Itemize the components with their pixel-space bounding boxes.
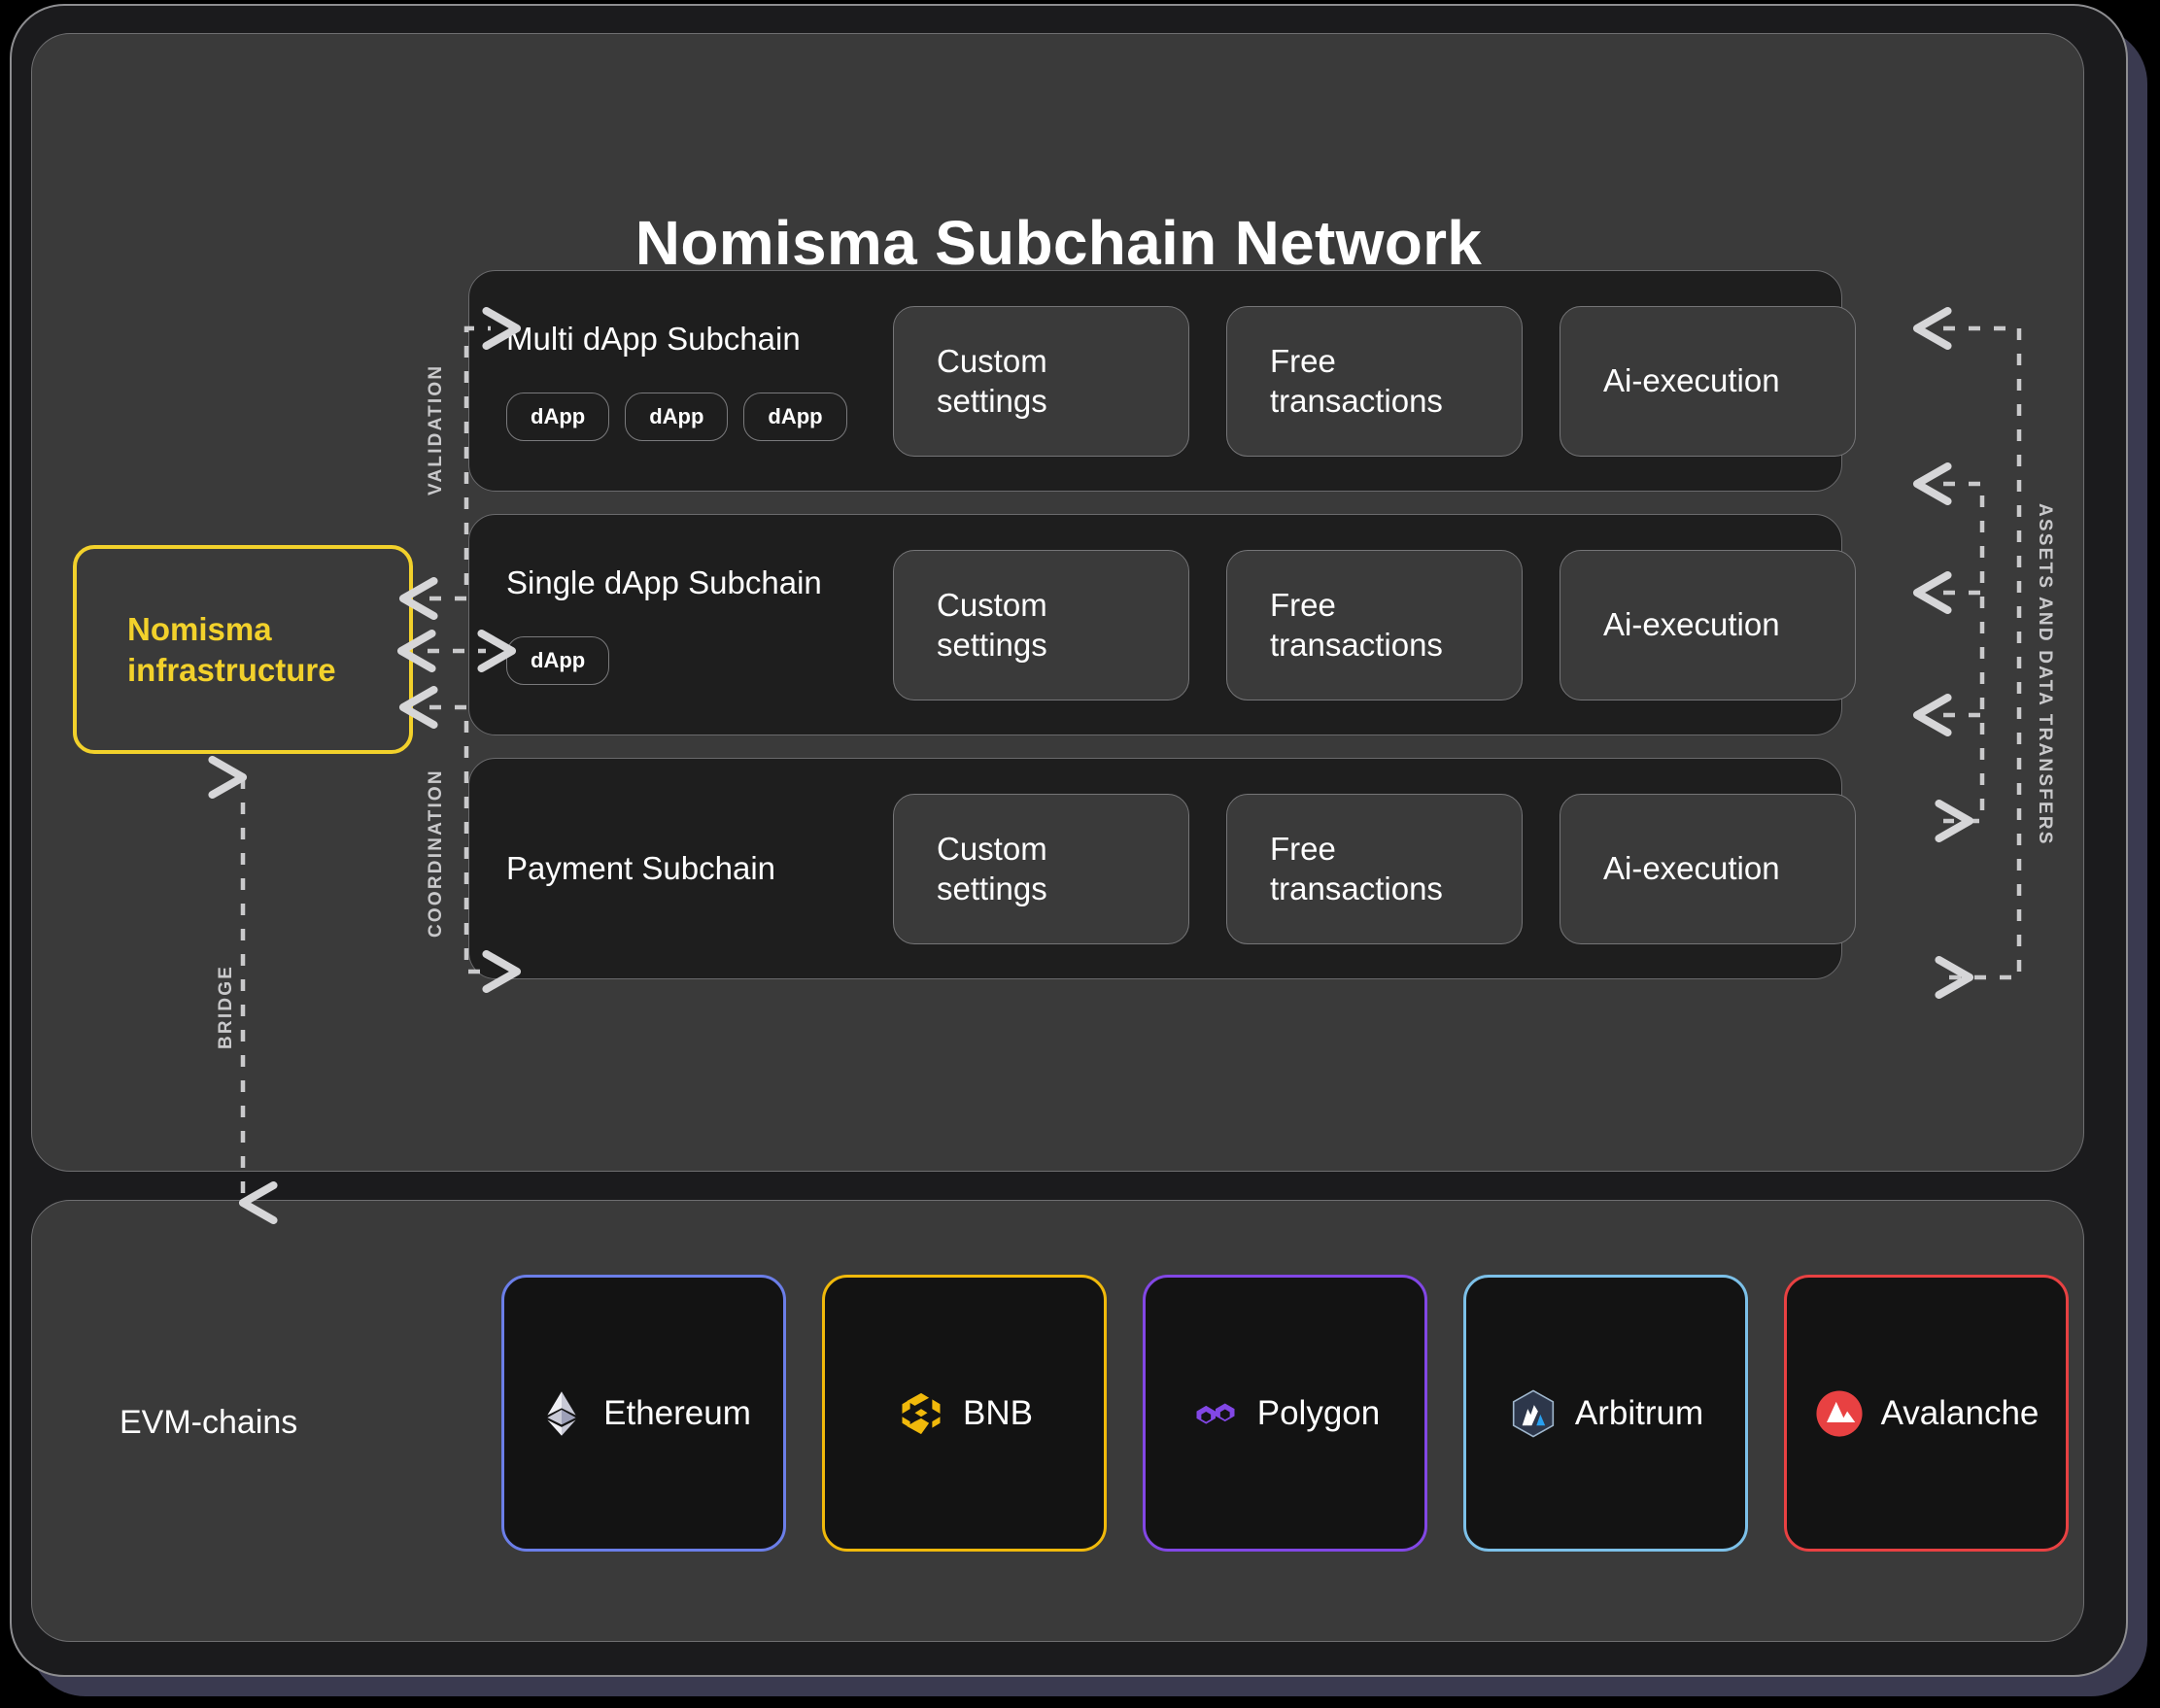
infra-line-1: Nomisma bbox=[127, 611, 272, 647]
subchain-row-list: Multi dApp Subchain dApp dApp dApp Custo… bbox=[468, 270, 1842, 1002]
feature-label: Freetransactions bbox=[1270, 341, 1443, 422]
chain-name: Polygon bbox=[1257, 1394, 1380, 1433]
arbitrum-icon bbox=[1508, 1388, 1559, 1439]
feature-label: Customsettings bbox=[937, 829, 1047, 909]
subchain-identity: Multi dApp Subchain dApp dApp dApp bbox=[506, 321, 893, 441]
feature-label: Customsettings bbox=[937, 585, 1047, 666]
feature-label: Ai-execution bbox=[1603, 360, 1780, 400]
chain-card-arbitrum[interactable]: Arbitrum bbox=[1463, 1275, 1748, 1552]
subchain-title: Payment Subchain bbox=[506, 850, 893, 887]
subchain-title: Multi dApp Subchain bbox=[506, 321, 893, 358]
chain-card-ethereum[interactable]: Ethereum bbox=[501, 1275, 786, 1552]
chain-name: BNB bbox=[963, 1394, 1033, 1433]
subchain-identity: Payment Subchain bbox=[506, 850, 893, 887]
dapp-pill[interactable]: dApp bbox=[625, 393, 728, 441]
diagram-canvas: Nomisma Subchain Network Nomisma infrast… bbox=[0, 0, 2160, 1708]
feature-list: Customsettings Freetransactions Ai-execu… bbox=[893, 794, 1856, 944]
chain-name: Avalanche bbox=[1881, 1394, 2040, 1433]
feature-label: Freetransactions bbox=[1270, 585, 1443, 666]
polygon-icon bbox=[1190, 1388, 1241, 1439]
feature-label: Customsettings bbox=[937, 341, 1047, 422]
chain-name: Arbitrum bbox=[1575, 1394, 1703, 1433]
validation-label: VALIDATION bbox=[426, 364, 447, 495]
infra-line-2: infrastructure bbox=[127, 652, 336, 688]
feature-list: Customsettings Freetransactions Ai-execu… bbox=[893, 306, 1856, 457]
chain-card-bnb[interactable]: BNB bbox=[822, 1275, 1107, 1552]
feature-list: Customsettings Freetransactions Ai-execu… bbox=[893, 550, 1856, 700]
chain-name: Ethereum bbox=[603, 1394, 751, 1433]
feature-label: Ai-execution bbox=[1603, 848, 1780, 888]
feature-custom-settings[interactable]: Customsettings bbox=[893, 306, 1189, 457]
avalanche-icon bbox=[1814, 1388, 1865, 1439]
feature-label: Freetransactions bbox=[1270, 829, 1443, 909]
dapp-pill[interactable]: dApp bbox=[743, 393, 846, 441]
feature-custom-settings[interactable]: Customsettings bbox=[893, 550, 1189, 700]
feature-free-transactions[interactable]: Freetransactions bbox=[1226, 794, 1523, 944]
subchain-row-single-dapp[interactable]: Single dApp Subchain dApp Customsettings… bbox=[468, 514, 1842, 735]
dapp-pill-list: dApp dApp dApp bbox=[506, 393, 893, 441]
bnb-icon bbox=[896, 1388, 946, 1439]
feature-custom-settings[interactable]: Customsettings bbox=[893, 794, 1189, 944]
evm-chain-card-list: Ethereum BNB bbox=[501, 1275, 2069, 1552]
feature-ai-execution[interactable]: Ai-execution bbox=[1560, 794, 1856, 944]
feature-ai-execution[interactable]: Ai-execution bbox=[1560, 306, 1856, 457]
dapp-pill[interactable]: dApp bbox=[506, 393, 609, 441]
coordination-label: COORDINATION bbox=[426, 769, 447, 938]
feature-ai-execution[interactable]: Ai-execution bbox=[1560, 550, 1856, 700]
feature-free-transactions[interactable]: Freetransactions bbox=[1226, 550, 1523, 700]
evm-chains-label: EVM-chains bbox=[120, 1404, 297, 1442]
feature-free-transactions[interactable]: Freetransactions bbox=[1226, 306, 1523, 457]
nomisma-infrastructure-box[interactable]: Nomisma infrastructure bbox=[73, 545, 413, 754]
bridge-label: BRIDGE bbox=[216, 965, 237, 1049]
subchain-row-payment[interactable]: Payment Subchain Customsettings Freetran… bbox=[468, 758, 1842, 979]
nomisma-infrastructure-label: Nomisma infrastructure bbox=[127, 609, 336, 690]
subchain-title: Single dApp Subchain bbox=[506, 564, 893, 601]
assets-and-data-transfers-label: ASSETS AND DATA TRANSFERS bbox=[2034, 503, 2055, 846]
chain-card-avalanche[interactable]: Avalanche bbox=[1784, 1275, 2069, 1552]
subchain-identity: Single dApp Subchain dApp bbox=[506, 564, 893, 685]
page-title: Nomisma Subchain Network bbox=[32, 207, 2085, 279]
dapp-pill[interactable]: dApp bbox=[506, 636, 609, 685]
subchain-row-multi-dapp[interactable]: Multi dApp Subchain dApp dApp dApp Custo… bbox=[468, 270, 1842, 492]
dapp-pill-list: dApp bbox=[506, 636, 893, 685]
chain-card-polygon[interactable]: Polygon bbox=[1143, 1275, 1427, 1552]
feature-label: Ai-execution bbox=[1603, 604, 1780, 644]
ethereum-icon bbox=[536, 1388, 587, 1439]
